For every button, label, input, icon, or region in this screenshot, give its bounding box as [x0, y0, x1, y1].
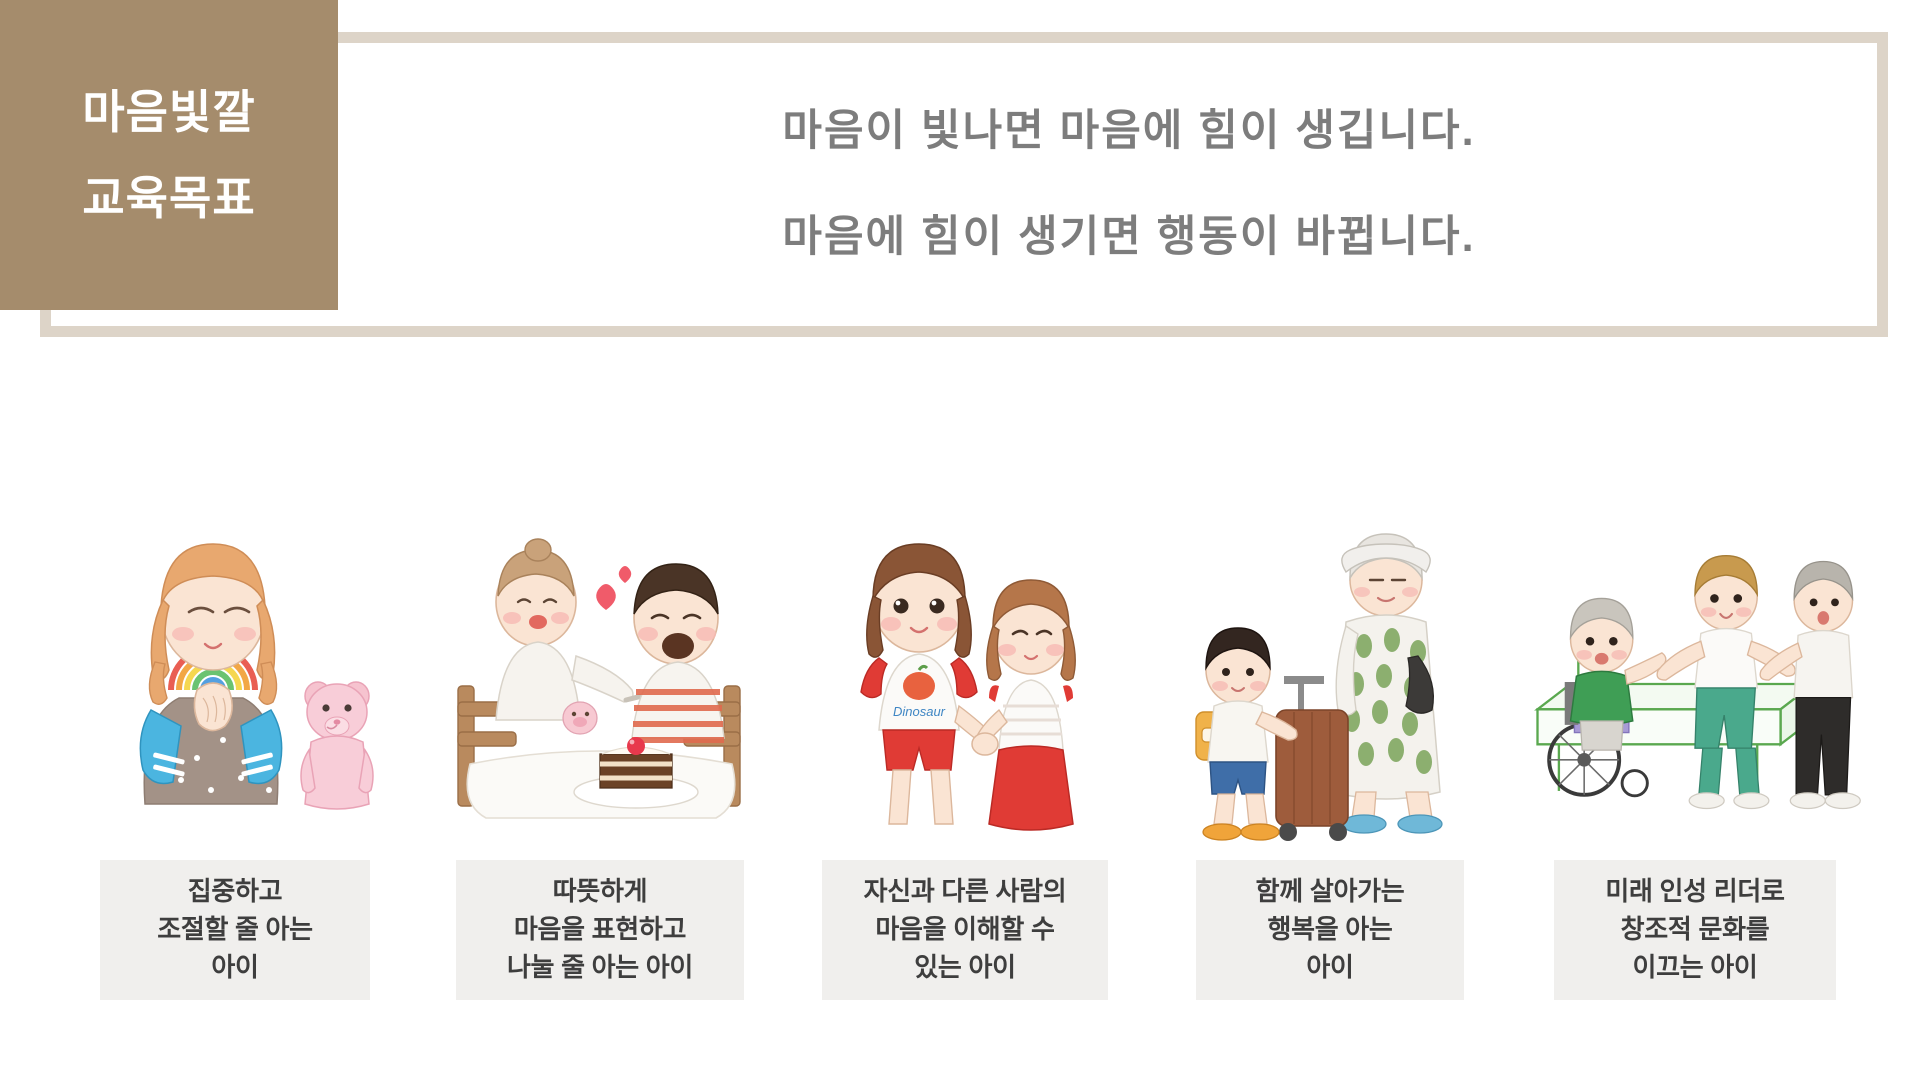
- caption-line: 조절할 줄 아는: [157, 911, 313, 949]
- slogan-line-2: 마음에 힘이 생기면 행동이 바뀝니다.: [782, 211, 1475, 265]
- caption-line: 있는 아이: [914, 949, 1015, 987]
- goal-card: Dinosaur: [790, 455, 1140, 1000]
- header-badge: 마음빛깔 교육목표: [0, 0, 338, 310]
- goal-card: 따뜻하게 마음을 표현하고 나눌 줄 아는 아이: [425, 455, 775, 1000]
- goal-card: 함께 살아가는 행복을 아는 아이: [1155, 455, 1505, 1000]
- goal-card: 집중하고 조절할 줄 아는 아이: [60, 455, 410, 1000]
- goal-card-caption: 따뜻하게 마음을 표현하고 나눌 줄 아는 아이: [456, 860, 744, 1000]
- caption-line: 자신과 다른 사람의: [864, 873, 1067, 911]
- goal-card-list: 집중하고 조절할 줄 아는 아이: [60, 455, 1870, 1000]
- caption-line: 마음을 이해할 수: [875, 911, 1054, 949]
- caption-line: 집중하고: [188, 873, 282, 911]
- caption-line: 아이: [1306, 949, 1353, 987]
- girl-feeding-boy-cake-icon: [425, 466, 775, 836]
- goal-card-caption: 미래 인성 리더로 창조적 문화를 이끄는 아이: [1554, 860, 1836, 1000]
- slide-canvas: 마음이 빛나면 마음에 힘이 생깁니다. 마음에 힘이 생기면 행동이 바뀝니다…: [0, 0, 1920, 1080]
- caption-line: 행복을 아는: [1267, 911, 1392, 949]
- goal-card-caption: 함께 살아가는 행복을 아는 아이: [1196, 860, 1464, 1000]
- svg-text:Dinosaur: Dinosaur: [893, 704, 946, 719]
- slogan-line-1: 마음이 빛나면 마음에 힘이 생깁니다.: [782, 105, 1475, 159]
- badge-title-line-1: 마음빛깔: [82, 89, 255, 135]
- goal-card: 미래 인성 리더로 창조적 문화를 이끄는 아이: [1520, 455, 1870, 1000]
- caption-line: 마음을 표현하고: [514, 911, 686, 949]
- header-slogan-block: 마음이 빛나면 마음에 힘이 생깁니다. 마음에 힘이 생기면 행동이 바뀝니다…: [338, 32, 1920, 337]
- caption-line: 함께 살아가는: [1256, 873, 1405, 911]
- goal-card-caption: 집중하고 조절할 줄 아는 아이: [100, 860, 370, 1000]
- caption-line: 미래 인성 리더로: [1605, 873, 1784, 911]
- children-with-wheelchair-friend-icon: [1520, 484, 1870, 854]
- girl-praying-with-teddy-bear-icon: [60, 455, 410, 824]
- caption-line: 창조적 문화를: [1621, 911, 1770, 949]
- caption-line: 따뜻하게: [553, 873, 647, 911]
- caption-line: 이끄는 아이: [1632, 949, 1757, 987]
- badge-title-line-2: 교육목표: [82, 175, 255, 221]
- caption-line: 나눌 줄 아는 아이: [507, 949, 693, 987]
- two-children-holding-hands-icon: Dinosaur: [790, 480, 1140, 850]
- boy-helping-grandmother-with-luggage-icon: [1155, 496, 1505, 866]
- goal-card-caption: 자신과 다른 사람의 마음을 이해할 수 있는 아이: [822, 860, 1108, 1000]
- caption-line: 아이: [211, 949, 258, 987]
